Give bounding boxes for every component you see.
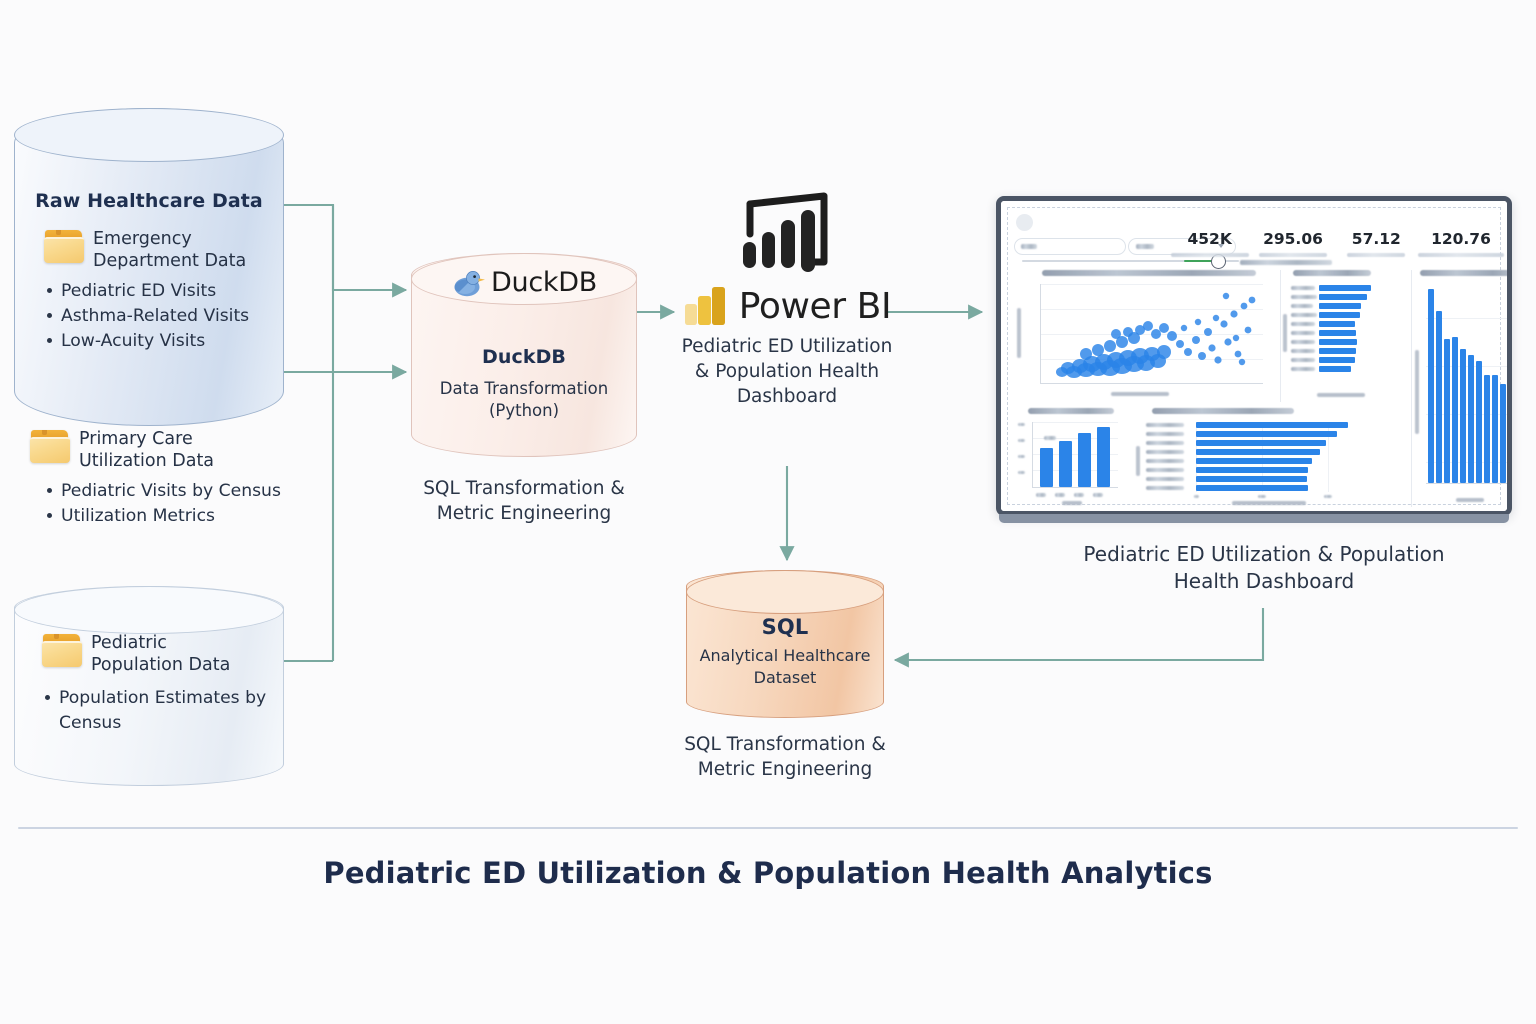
edge-raw-to-duckdb bbox=[283, 205, 406, 290]
kpi-value: 452K bbox=[1168, 232, 1251, 248]
footer-divider bbox=[18, 827, 1518, 829]
powerbi-bars-icon bbox=[683, 284, 729, 328]
population-items: Population Estimates by Census bbox=[42, 686, 282, 736]
pediatric-population-data-cylinder[interactable]: Pediatric Population Data Population Est… bbox=[14, 586, 284, 786]
bar bbox=[1436, 311, 1442, 483]
x-tick-labels bbox=[1074, 493, 1084, 497]
bar bbox=[1319, 348, 1356, 354]
bar bbox=[1444, 339, 1450, 483]
dashboard-screen: 452K 295.06 57.12 120.76 bbox=[1001, 201, 1507, 511]
bar bbox=[1319, 285, 1371, 291]
folder-icon bbox=[42, 634, 82, 665]
bar bbox=[1484, 375, 1490, 483]
plot-area bbox=[1426, 286, 1512, 484]
kpi-value: 57.12 bbox=[1335, 232, 1418, 248]
bar bbox=[1059, 441, 1072, 487]
dashboard-monitor[interactable]: 452K 295.06 57.12 120.76 bbox=[996, 196, 1512, 516]
list-item: Pediatric Visits by Census bbox=[44, 479, 330, 504]
chart-title bbox=[1420, 270, 1512, 276]
kpi-card: 452K bbox=[1168, 232, 1251, 257]
emergency-department-items: Pediatric ED Visits Asthma-Related Visit… bbox=[44, 279, 276, 354]
bar bbox=[1196, 449, 1320, 455]
y-axis-label bbox=[1136, 446, 1140, 476]
kpi-card: 120.76 bbox=[1418, 232, 1504, 257]
sql-caption-line2: Metric Engineering bbox=[642, 757, 928, 782]
scatter-points bbox=[1040, 284, 1263, 384]
bar bbox=[1468, 355, 1474, 483]
duckdb-caption-line1: SQL Transformation & bbox=[381, 476, 667, 501]
emergency-department-folder-group: Emergency Department Data Pediatric ED V… bbox=[44, 228, 276, 354]
plot-area bbox=[1032, 422, 1118, 488]
kpi-label bbox=[1171, 253, 1249, 257]
chart-bars-pediatric-population-dynamics[interactable] bbox=[1411, 270, 1512, 507]
sql-subtitle-line1: Analytical Healthcare bbox=[683, 646, 887, 666]
duckdb-cylinder[interactable]: DuckDB DuckDB Data Transformation (Pytho… bbox=[411, 253, 637, 457]
chart-bars-pediatric-care-by-state[interactable] bbox=[1280, 270, 1412, 402]
list-item: Population Estimates by Census bbox=[42, 686, 282, 736]
bar bbox=[1476, 361, 1482, 483]
y-axis-label bbox=[1415, 350, 1419, 434]
bar bbox=[1319, 312, 1360, 318]
filter-dropdown-left-value bbox=[1021, 244, 1037, 249]
bar bbox=[1452, 337, 1458, 483]
raw-healthcare-title: Raw Healthcare Data bbox=[14, 190, 284, 212]
dashboard-caption: Pediatric ED Utilization & Population He… bbox=[1055, 541, 1473, 595]
chart-title bbox=[1293, 270, 1371, 276]
bar bbox=[1319, 366, 1351, 372]
bar bbox=[1196, 467, 1308, 473]
x-tick-labels bbox=[1036, 493, 1046, 497]
y-axis-label bbox=[1283, 314, 1287, 352]
x-axis-label bbox=[1456, 498, 1484, 502]
bar bbox=[1319, 357, 1355, 363]
folder-icon bbox=[44, 230, 84, 261]
primary-care-label: Primary Care Utilization Data bbox=[79, 428, 254, 472]
bar bbox=[1492, 375, 1498, 483]
list-item: Utilization Metrics bbox=[44, 504, 330, 529]
primary-care-items: Pediatric Visits by Census Utilization M… bbox=[44, 479, 330, 529]
bar bbox=[1196, 476, 1307, 482]
powerbi-caption: Pediatric ED Utilization & Population He… bbox=[656, 334, 918, 409]
population-folder-group: Pediatric Population Data Population Est… bbox=[42, 632, 282, 736]
bar bbox=[1319, 339, 1357, 345]
monitor-stand bbox=[999, 514, 1509, 523]
powerbi-logo-row: Power BI bbox=[656, 284, 918, 328]
y-tick-labels bbox=[1018, 455, 1025, 458]
kpi-value: 295.06 bbox=[1251, 232, 1334, 248]
list-item: Asthma-Related Visits bbox=[44, 304, 276, 329]
bar bbox=[1428, 289, 1434, 483]
slider-caption bbox=[1240, 260, 1332, 265]
page-title: Pediatric ED Utilization & Population He… bbox=[0, 856, 1536, 890]
powerbi-caption-line1: Pediatric ED Utilization bbox=[656, 334, 918, 359]
duckdb-caption-line2: Metric Engineering bbox=[381, 501, 667, 526]
powerbi-caption-line2: & Population Health bbox=[656, 359, 918, 384]
x-axis-label bbox=[1232, 501, 1306, 505]
x-axis-label bbox=[1111, 392, 1169, 396]
chart-title bbox=[1152, 408, 1294, 414]
bar bbox=[1319, 330, 1356, 336]
x-tick-labels bbox=[1324, 495, 1332, 498]
duckdb-subtitle-line1: Data Transformation bbox=[411, 378, 637, 399]
dashboard-caption-line1: Pediatric ED Utilization & Population bbox=[1055, 541, 1473, 568]
bar bbox=[1196, 422, 1348, 428]
dashboard-caption-line2: Health Dashboard bbox=[1055, 568, 1473, 595]
powerbi-outline-icon bbox=[728, 190, 846, 282]
x-tick-labels bbox=[1055, 493, 1065, 497]
y-tick-labels bbox=[1018, 471, 1025, 474]
sql-dataset-cylinder[interactable]: SQL Analytical Healthcare Dataset bbox=[686, 570, 884, 718]
raw-healthcare-data-cylinder[interactable]: Raw Healthcare Data Emergency Department… bbox=[14, 108, 284, 426]
duckdb-logo-word: DuckDB bbox=[491, 267, 597, 298]
x-tick-labels bbox=[1258, 495, 1266, 498]
bar bbox=[1319, 321, 1355, 327]
powerbi-caption-line3: Dashboard bbox=[656, 384, 918, 409]
x-axis-label bbox=[1062, 501, 1082, 505]
emergency-department-label: Emergency Department Data bbox=[93, 228, 276, 272]
duckdb-subtitle-line2: (Python) bbox=[411, 400, 637, 421]
sql-subtitle-line2: Dataset bbox=[686, 668, 884, 688]
duck-icon bbox=[451, 268, 487, 298]
folder-icon bbox=[30, 430, 70, 461]
chart-bars-low-acuity-visits[interactable] bbox=[1016, 408, 1124, 506]
primary-care-folder-group[interactable]: Primary Care Utilization Data Pediatric … bbox=[30, 428, 330, 529]
kpi-card: 295.06 bbox=[1251, 232, 1334, 257]
diagram-canvas: Raw Healthcare Data Emergency Department… bbox=[0, 0, 1536, 1024]
bar bbox=[1078, 433, 1091, 487]
bar bbox=[1196, 431, 1337, 437]
chart-title bbox=[1028, 408, 1114, 414]
bar bbox=[1460, 349, 1466, 483]
dashboard-canvas: 452K 295.06 57.12 120.76 bbox=[1007, 207, 1501, 505]
bar bbox=[1319, 294, 1367, 300]
kpi-value: 120.76 bbox=[1418, 232, 1504, 248]
kpi-label bbox=[1347, 253, 1405, 257]
bar bbox=[1500, 384, 1506, 483]
x-tick-labels bbox=[1194, 495, 1199, 498]
y-axis-label bbox=[1017, 308, 1021, 358]
sql-caption-line1: SQL Transformation & bbox=[642, 732, 928, 757]
sql-dataset-content: SQL Analytical Healthcare Dataset bbox=[686, 570, 884, 718]
bar bbox=[1196, 440, 1326, 446]
x-axis-label bbox=[1317, 393, 1365, 397]
chart-bars-visits-by-community[interactable] bbox=[1136, 408, 1404, 506]
monitor-frame: 452K 295.06 57.12 120.76 bbox=[996, 196, 1512, 516]
plot-area bbox=[1146, 422, 1394, 492]
chart-title bbox=[1042, 270, 1256, 276]
y-tick-labels bbox=[1018, 439, 1025, 442]
x-tick-labels bbox=[1093, 493, 1103, 497]
filter-dropdown-right-value bbox=[1136, 244, 1154, 249]
dashboard-avatar bbox=[1016, 214, 1033, 231]
list-item: Low-Acuity Visits bbox=[44, 329, 276, 354]
pediatric-population-content: Pediatric Population Data Population Est… bbox=[14, 586, 284, 786]
kpi-label bbox=[1259, 253, 1327, 257]
y-tick-labels bbox=[1018, 423, 1025, 426]
chart-scatter-primary-care-vs-ed[interactable] bbox=[1016, 270, 1269, 402]
bar bbox=[1196, 485, 1308, 491]
duckdb-caption: SQL Transformation & Metric Engineering bbox=[381, 476, 667, 526]
duckdb-title: DuckDB bbox=[411, 346, 637, 368]
sql-title: SQL bbox=[686, 615, 884, 639]
population-label: Pediatric Population Data bbox=[91, 632, 241, 676]
bar bbox=[1040, 448, 1053, 487]
data-label bbox=[1044, 436, 1056, 440]
bar bbox=[1508, 384, 1512, 483]
plot-area bbox=[1291, 285, 1403, 377]
kpi-label bbox=[1418, 253, 1504, 257]
bar bbox=[1319, 303, 1361, 309]
bar bbox=[1097, 427, 1110, 487]
kpi-row: 452K 295.06 57.12 120.76 bbox=[1168, 232, 1504, 257]
duckdb-content: DuckDB DuckDB Data Transformation (Pytho… bbox=[411, 253, 637, 457]
raw-healthcare-content: Raw Healthcare Data Emergency Department… bbox=[14, 108, 284, 426]
list-item: Pediatric ED Visits bbox=[44, 279, 276, 304]
powerbi-node[interactable]: Power BI Pediatric ED Utilization & Popu… bbox=[656, 190, 918, 409]
plot-area bbox=[1040, 284, 1263, 384]
bar bbox=[1196, 458, 1312, 464]
edge-dashboard-to-sql bbox=[895, 608, 1263, 660]
kpi-card: 57.12 bbox=[1335, 232, 1418, 257]
sql-caption: SQL Transformation & Metric Engineering bbox=[642, 732, 928, 782]
powerbi-logo-word: Power BI bbox=[739, 286, 891, 327]
duckdb-logo: DuckDB bbox=[411, 267, 637, 298]
